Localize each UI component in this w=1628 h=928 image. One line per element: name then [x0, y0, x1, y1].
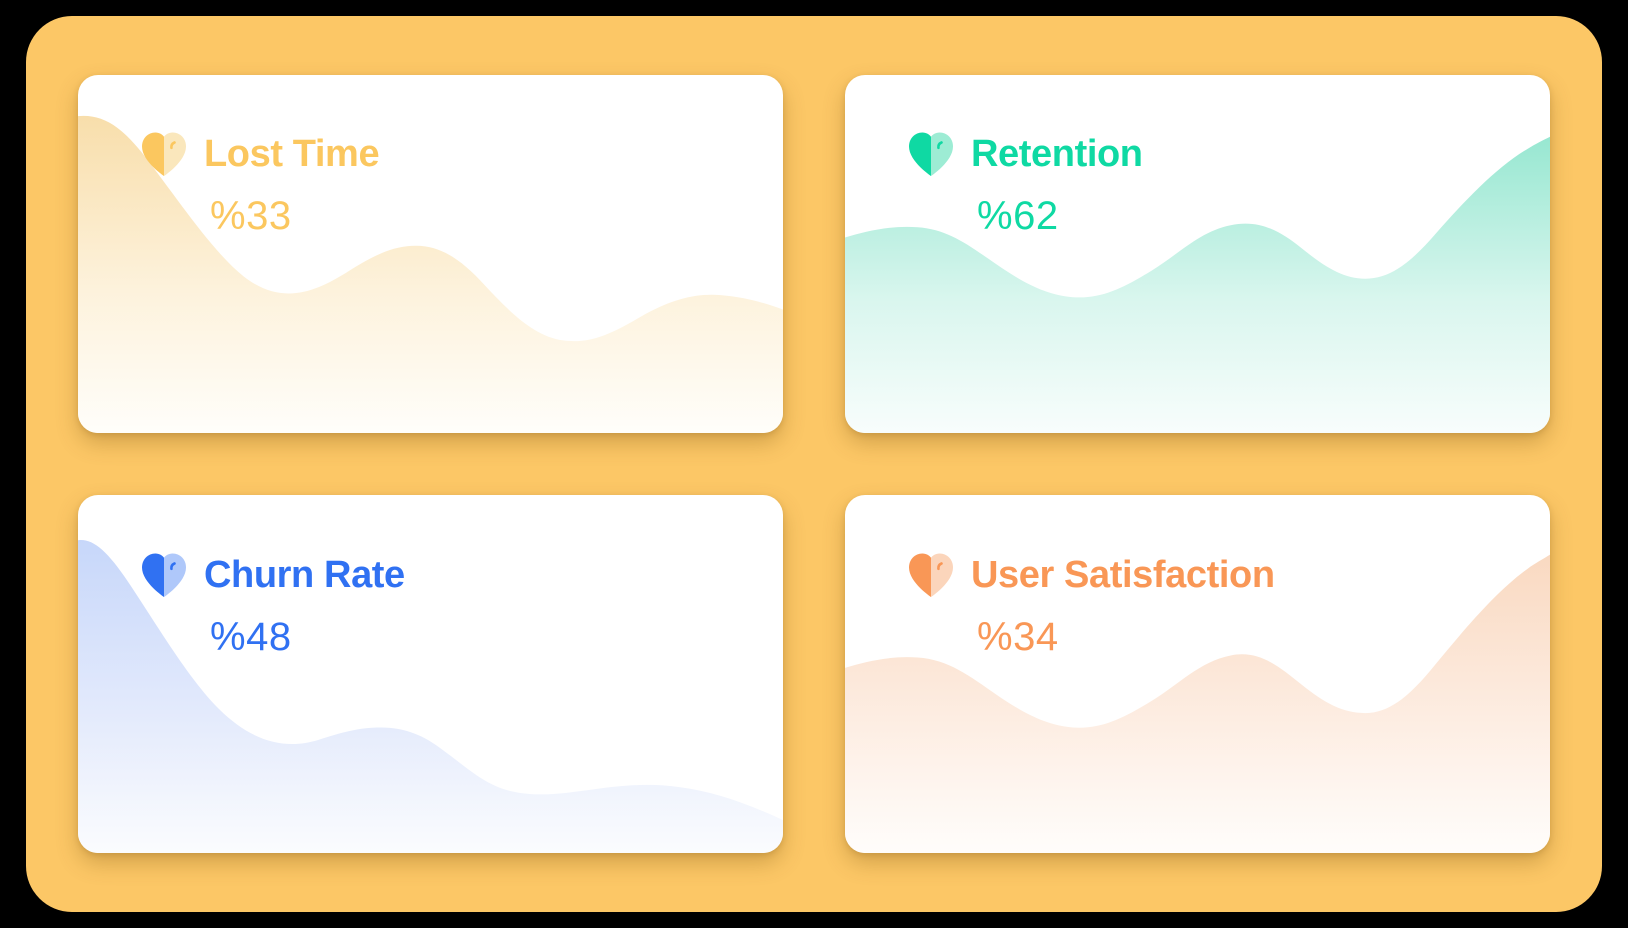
card-title: Lost Time: [204, 135, 379, 173]
dashboard-frame: Lost Time %33: [26, 16, 1602, 912]
card-value: %34: [977, 617, 1059, 657]
card-header-lost-time: Lost Time: [140, 131, 379, 177]
card-header-user-satisfaction: User Satisfaction: [907, 552, 1275, 598]
heart-icon: [907, 131, 955, 177]
card-title: User Satisfaction: [971, 556, 1275, 594]
card-header-churn-rate: Churn Rate: [140, 552, 405, 598]
card-value: %62: [977, 196, 1059, 236]
area-chart-user-satisfaction: [845, 495, 1550, 853]
area-chart-lost-time: [78, 75, 783, 433]
heart-icon: [140, 552, 188, 598]
area-chart-retention: [845, 75, 1550, 433]
card-value: %33: [210, 196, 292, 236]
heart-icon: [140, 131, 188, 177]
card-title: Retention: [971, 135, 1143, 173]
metric-card-retention[interactable]: Retention %62: [845, 75, 1550, 433]
area-chart-churn-rate: [78, 495, 783, 853]
card-title: Churn Rate: [204, 556, 405, 594]
metrics-card-grid: Lost Time %33: [78, 75, 1550, 853]
metric-card-churn-rate[interactable]: Churn Rate %48: [78, 495, 783, 853]
metric-card-user-satisfaction[interactable]: User Satisfaction %34: [845, 495, 1550, 853]
card-header-retention: Retention: [907, 131, 1143, 177]
metric-card-lost-time[interactable]: Lost Time %33: [78, 75, 783, 433]
card-value: %48: [210, 617, 292, 657]
heart-icon: [907, 552, 955, 598]
